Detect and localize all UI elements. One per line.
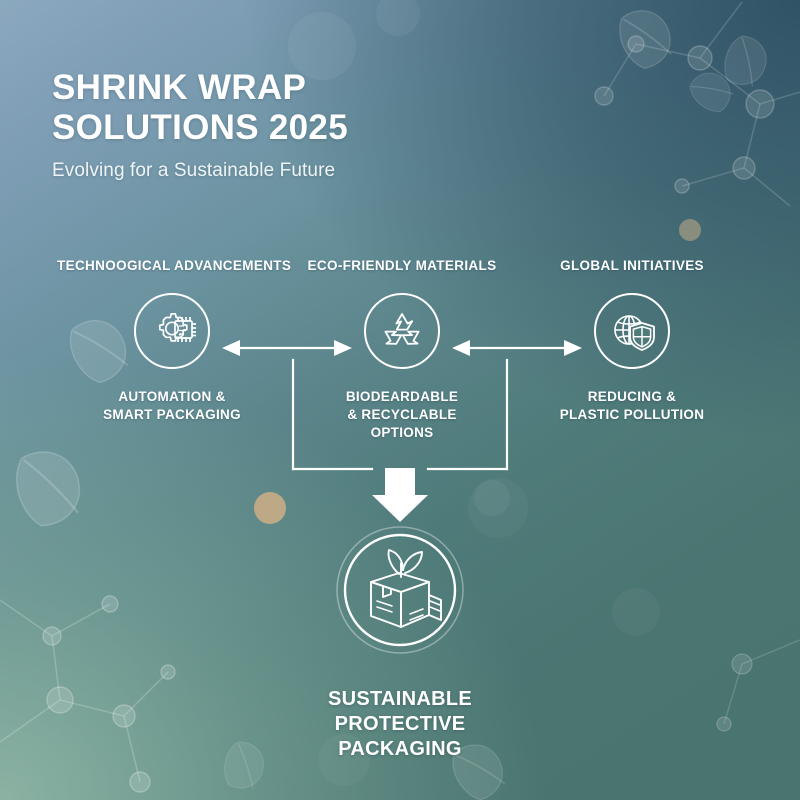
outcome-label-line1: SUSTAINABLE <box>275 687 525 712</box>
pillar-global-initiatives[interactable]: GLOBAL INITIATIVES <box>517 258 747 424</box>
page-title-line2: SOLUTIONS 2025 <box>52 108 672 148</box>
pillar-subtitle-line2: SMART PACKAGING <box>57 406 287 424</box>
pillar-subtitle: AUTOMATION & SMART PACKAGING <box>57 388 287 424</box>
recycle-icon <box>363 292 441 370</box>
molecule-nodes-right <box>717 654 752 731</box>
pillar-technological-advancements[interactable]: TECHNOOGICAL ADVANCEMENTS <box>57 258 287 424</box>
accent-dot-right <box>679 219 701 241</box>
pillar-heading: TECHNOOGICAL ADVANCEMENTS <box>57 258 287 273</box>
outcome-label: SUSTAINABLE PROTECTIVE PACKAGING <box>275 687 525 762</box>
leaf-decoration-bottom-2 <box>221 739 268 792</box>
eco-package-box-icon <box>325 525 475 675</box>
pillar-heading: ECO-FRIENDLY MATERIALS <box>287 258 517 273</box>
pillar-subtitle: REDUCING & PLASTIC POLLUTION <box>517 388 747 424</box>
infographic-canvas: SHRINK WRAP SOLUTIONS 2025 Evolving for … <box>0 0 800 800</box>
outcome-node[interactable]: SUSTAINABLE PROTECTIVE PACKAGING <box>275 525 525 762</box>
outcome-label-line3: PACKAGING <box>275 737 525 762</box>
page-title-line1: SHRINK WRAP <box>52 68 672 108</box>
leaf-decoration-top-2 <box>719 32 772 90</box>
pillar-subtitle-line2: & RECYCLABLE <box>287 406 517 424</box>
molecule-graphic-bottom-left <box>0 600 168 782</box>
page-subtitle: Evolving for a Sustainable Future <box>52 158 672 184</box>
molecule-graphic-right <box>724 640 800 724</box>
leaf-decoration-top-1 <box>612 2 679 74</box>
leaf-decoration-left-2 <box>9 443 88 530</box>
pillar-eco-friendly-materials[interactable]: ECO-FRIENDLY MATERIALS BIODEARDABLE & RE… <box>287 258 517 442</box>
molecule-nodes-bottom-left <box>43 596 175 792</box>
pillar-subtitle-line3: OPTIONS <box>287 424 517 442</box>
outcome-label-line2: PROTECTIVE <box>275 712 525 737</box>
pillar-subtitle-line1: BIODEARDABLE <box>287 388 517 406</box>
pillar-subtitle-line2: PLASTIC POLLUTION <box>517 406 747 424</box>
globe-shield-icon <box>593 292 671 370</box>
pillar-subtitle-line1: REDUCING & <box>517 388 747 406</box>
header: SHRINK WRAP SOLUTIONS 2025 Evolving for … <box>52 68 672 184</box>
pillar-subtitle: BIODEARDABLE & RECYCLABLE OPTIONS <box>287 388 517 442</box>
gear-microchip-icon <box>133 292 211 370</box>
accent-dot-left <box>254 492 286 524</box>
pillar-heading: GLOBAL INITIATIVES <box>517 258 747 273</box>
pillar-subtitle-line1: AUTOMATION & <box>57 388 287 406</box>
